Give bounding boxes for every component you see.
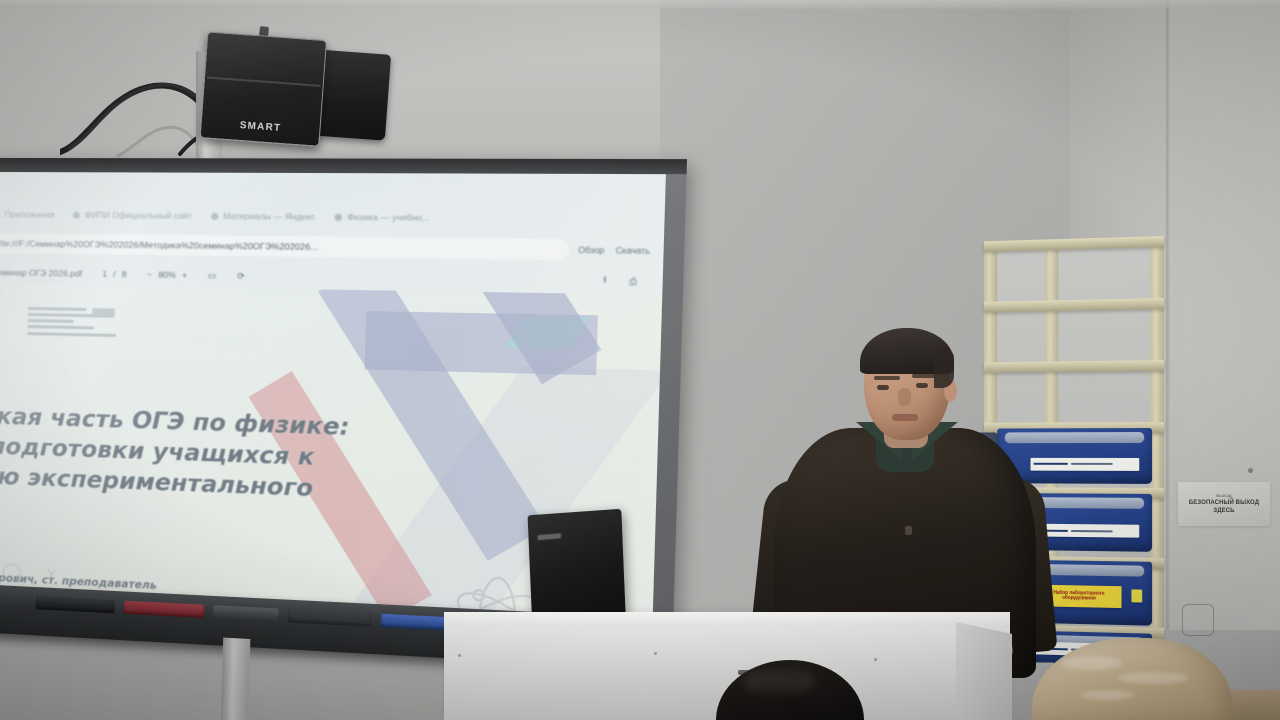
bookmark-icon: [334, 213, 342, 220]
bookmark-item[interactable]: Физика — учебно...: [334, 212, 430, 223]
pen-green[interactable]: [288, 609, 372, 627]
presenter-eye-left: [877, 385, 889, 390]
bin-yellow-tag: [1132, 589, 1143, 602]
sweater-button: [905, 526, 912, 535]
zoom-level-label: 80%: [158, 270, 176, 280]
hair-strand: [1118, 672, 1188, 684]
lectern-right-side: [956, 622, 1012, 720]
circle-mark-icon: [3, 563, 21, 582]
lectern-top-surface: [444, 612, 1010, 627]
lenovo-logo: [537, 533, 561, 540]
projector-seam: [207, 76, 321, 86]
hair-strand: [1080, 690, 1134, 700]
download-icon[interactable]: ⭳: [603, 274, 607, 289]
lectern-screw: [654, 652, 657, 655]
exit-sign-small-text: ВЫХОД: [1216, 493, 1231, 498]
bookmark-item[interactable]: ФИПИ Официальный сайт: [72, 210, 192, 221]
pen-red[interactable]: [124, 601, 205, 618]
url-actions[interactable]: Обзор Скачать: [578, 245, 654, 256]
safety-exit-sign: ВЫХОД БЕЗОПАСНЫЙ ВЫХОД ЗДЕСЬ: [1178, 482, 1270, 526]
board-eraser[interactable]: [213, 605, 278, 622]
pdf-page-current[interactable]: 1: [102, 269, 107, 279]
address-bar[interactable]: file:///F:/Семинар%20ОГЭ%202026/Методика…: [0, 230, 655, 265]
download-action[interactable]: Скачать: [616, 245, 650, 255]
presenter-nose: [898, 388, 911, 406]
pdf-page-total: 8: [122, 269, 127, 279]
print-icon[interactable]: ⎙: [629, 276, 637, 288]
pdf-file-name: Семинар ОГЭ 2026.pdf: [0, 267, 82, 278]
bookmark-label: Физика — учебно...: [347, 212, 430, 223]
lectern-screw: [458, 654, 461, 657]
presenter-brow-right: [912, 374, 938, 378]
pdf-page-indicator[interactable]: 1 / 8: [102, 269, 127, 280]
slide-footer-marks: Y: [3, 563, 64, 584]
pdf-zoom-controls[interactable]: − 80% +: [147, 269, 187, 280]
wall-screw: [1248, 468, 1253, 473]
projector-model-text: [379, 84, 381, 90]
bookmark-icon: [211, 212, 218, 219]
presenter-mouth: [892, 414, 918, 421]
exit-sign-main-text: БЕЗОПАСНЫЙ ВЫХОД ЗДЕСЬ: [1178, 500, 1270, 515]
pen-black[interactable]: [36, 596, 115, 613]
presenter-brow-left: [874, 376, 900, 380]
pdf-page-separator: /: [113, 269, 116, 279]
zoom-in-button[interactable]: +: [182, 270, 187, 280]
projector-brand-label: SMART: [201, 117, 319, 137]
slide-title: ...ческая часть ОГЭ по физике: ...ка под…: [0, 401, 411, 541]
bookmark-label: Приложения: [5, 209, 55, 219]
toolbar-spacer: [266, 276, 581, 281]
bookmark-item[interactable]: Материалы — Яндекс: [210, 211, 315, 222]
classroom-scene: SMART Приложения ФИПИ Официальный сайт: [0, 0, 1280, 720]
zoom-out-button[interactable]: −: [147, 269, 152, 279]
rotate-icon[interactable]: ⟳: [237, 270, 245, 281]
ministry-logo: [27, 303, 121, 339]
circle-icon: [72, 211, 79, 218]
bookmark-label: Материалы — Яндекс: [223, 211, 315, 222]
wall-access-plate: [1182, 604, 1214, 636]
fit-page-icon[interactable]: ▭: [208, 270, 217, 281]
wall-corner-edge: [1166, 0, 1172, 720]
lectern-screw: [874, 658, 877, 661]
smart-projector: SMART: [199, 31, 392, 156]
url-input[interactable]: file:///F:/Семинар%20ОГЭ%202026/Методика…: [0, 233, 570, 260]
ceiling-edge: [0, 0, 1280, 10]
y-mark-icon: Y: [46, 565, 63, 582]
presenter-eye-right: [916, 383, 928, 388]
bookmark-label: ФИПИ Официальный сайт: [85, 210, 193, 221]
hair-highlight: [744, 670, 814, 692]
presenter-hair-side: [934, 348, 954, 388]
hair-strand: [1062, 656, 1122, 670]
bookmarks-bar[interactable]: Приложения ФИПИ Официальный сайт Материа…: [0, 202, 666, 232]
browse-action[interactable]: Обзор: [578, 245, 604, 255]
projector-lens-housing: SMART: [200, 31, 328, 147]
bookmark-item[interactable]: Приложения: [0, 209, 55, 220]
board-stand-leg: [220, 638, 250, 720]
